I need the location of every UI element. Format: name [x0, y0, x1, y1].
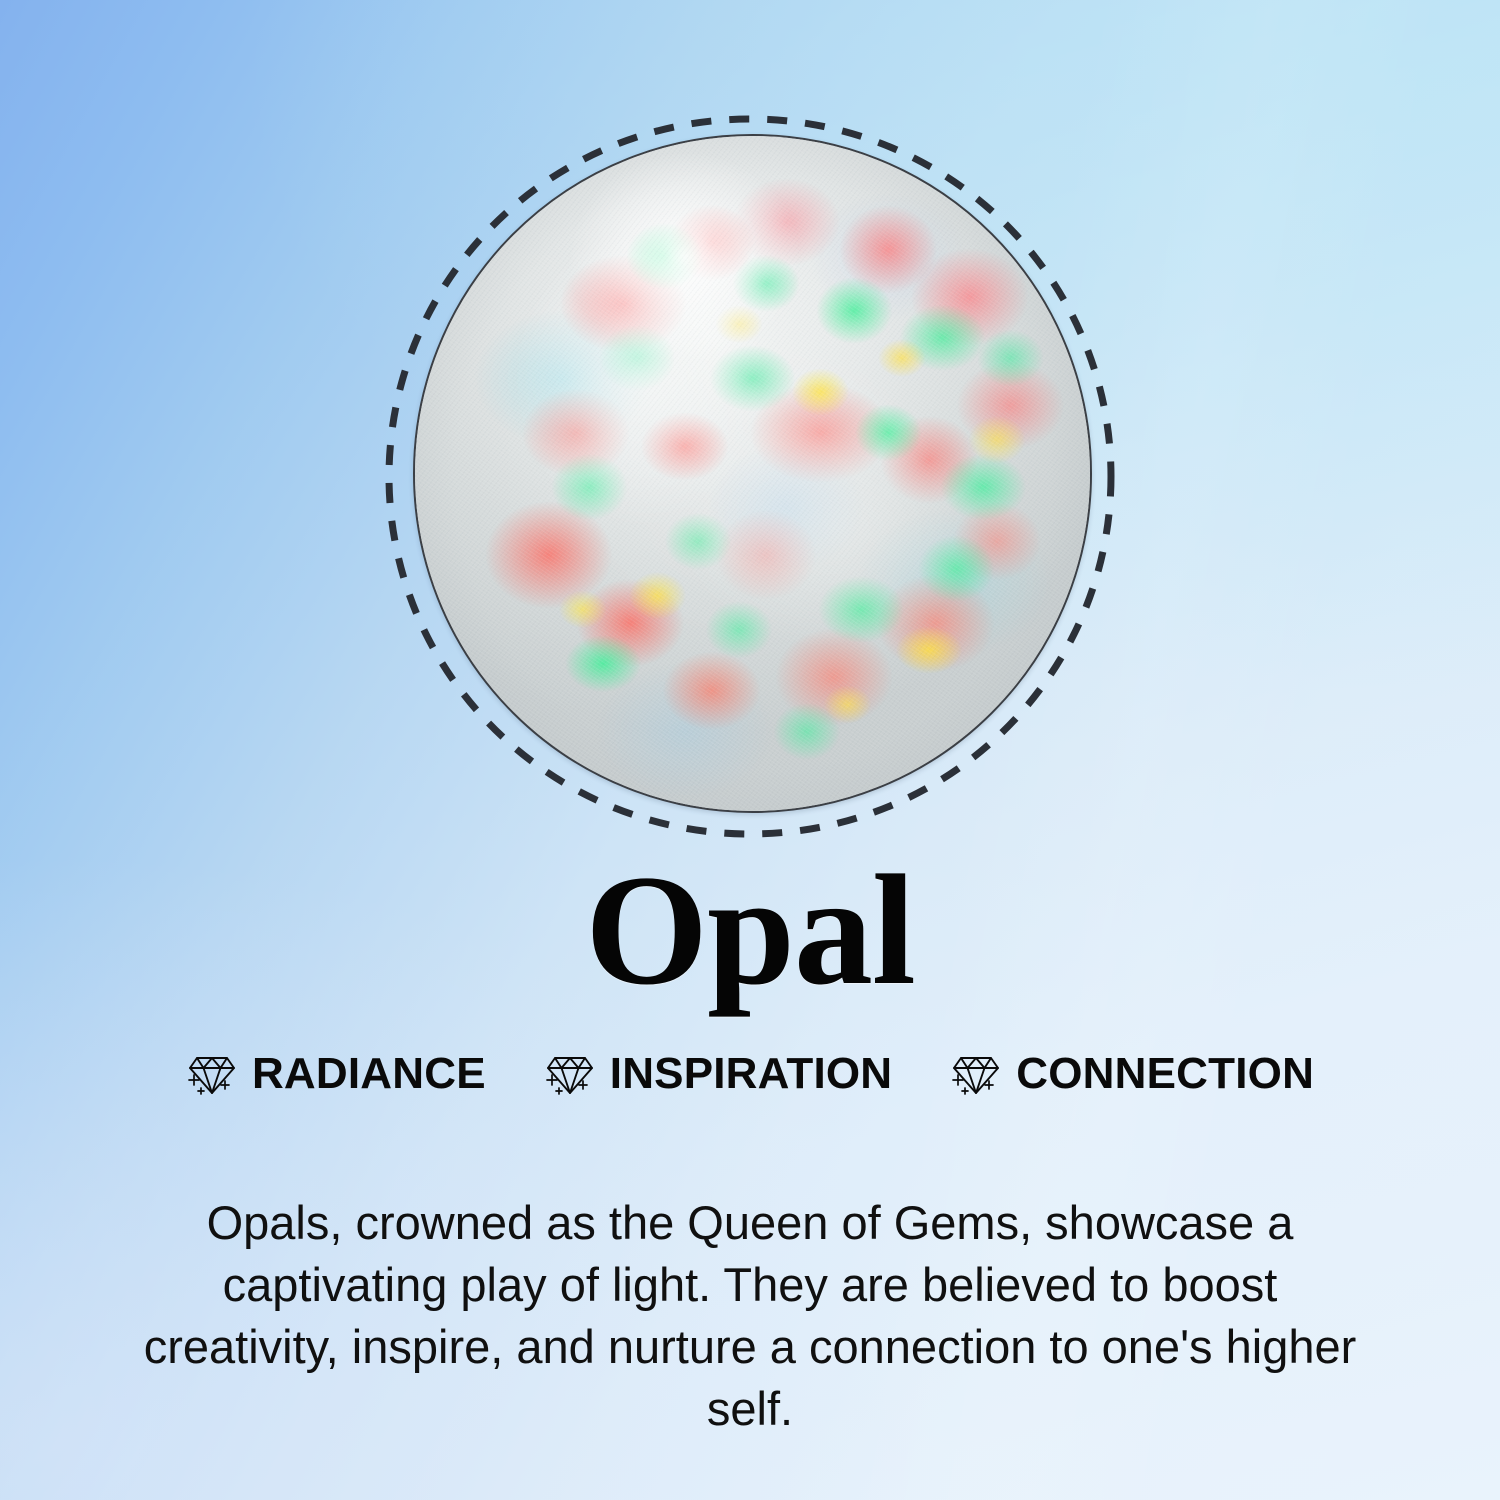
keyword-item-connection: CONNECTION	[950, 1048, 1314, 1100]
diamond-icon	[950, 1048, 1002, 1100]
keyword-label: INSPIRATION	[610, 1049, 893, 1099]
diamond-icon	[186, 1048, 238, 1100]
description-text: Opals, crowned as the Queen of Gems, sho…	[120, 1192, 1380, 1440]
keyword-label: CONNECTION	[1016, 1049, 1314, 1099]
keyword-list: RADIANCE	[0, 1048, 1500, 1100]
opal-rim-shading	[413, 134, 1092, 813]
keyword-item-inspiration: INSPIRATION	[544, 1048, 893, 1100]
gem-figure	[385, 115, 1115, 838]
opal-stone	[413, 134, 1092, 813]
diamond-icon	[544, 1048, 596, 1100]
opal-gem-card: Opal	[0, 0, 1500, 1500]
page-title: Opal	[0, 852, 1500, 1010]
keyword-item-radiance: RADIANCE	[186, 1048, 486, 1100]
keyword-label: RADIANCE	[252, 1049, 486, 1099]
